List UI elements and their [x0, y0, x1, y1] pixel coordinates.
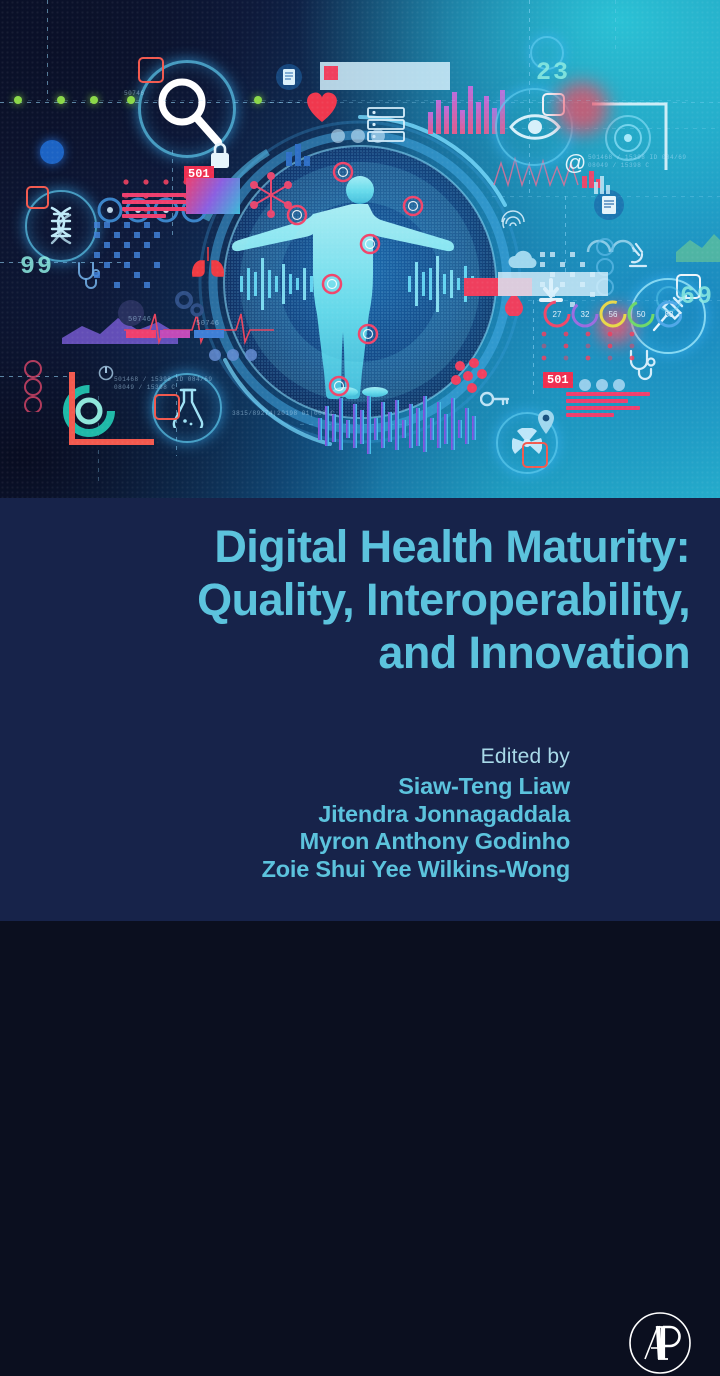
info-panel — [320, 62, 450, 90]
tag-chip — [194, 330, 224, 338]
hud-readouts: 23 99 69 501 501 50746 501468 / 15398 ID… — [0, 0, 720, 498]
title-line: Quality, Interoperability, — [30, 573, 690, 626]
micro-label: 50746 — [196, 320, 220, 328]
readout-69: 69 — [680, 282, 714, 311]
title-panel: Digital Health Maturity: Quality, Intero… — [0, 498, 720, 921]
tag-chip — [160, 330, 190, 338]
editor-name: Zoie Shui Yee Wilkins-Wong — [262, 856, 570, 884]
micro-label: 501468 / 15398 ID 084/69 — [114, 376, 212, 383]
page-title: Digital Health Maturity: Quality, Intero… — [30, 520, 690, 679]
readout-501: 501 — [543, 372, 573, 388]
data-bar — [122, 214, 166, 218]
micro-label: 08049 / 15398 C — [114, 384, 176, 391]
editor-name: Myron Anthony Godinho — [262, 828, 570, 856]
micro-label: 50746 — [128, 316, 152, 324]
editor-name: Jitendra Jonnagaddala — [262, 801, 570, 829]
info-panel — [498, 272, 608, 296]
editor-name: Siaw-Teng Liaw — [262, 773, 570, 801]
data-bar — [566, 413, 614, 417]
data-bar — [122, 200, 190, 204]
micro-label: 08049 / 15398 C — [588, 162, 650, 169]
readout-99: 99 — [20, 252, 54, 281]
cover-artwork: @ — [0, 0, 720, 498]
info-panel-swatch — [324, 66, 338, 80]
data-bar — [566, 406, 640, 410]
edited-by-label: Edited by — [481, 745, 570, 769]
micro-label: 501468 / 15398 ID 084/69 — [588, 154, 686, 161]
micro-label: 50746 — [124, 90, 145, 97]
micro-label: 3815/89274|20198 01|008 C — [232, 410, 335, 417]
publisher-logo-academic-press — [627, 1310, 693, 1376]
title-line: and Innovation — [30, 626, 690, 679]
gradient-swatch — [186, 178, 240, 214]
title-line: Digital Health Maturity: — [30, 520, 690, 573]
book-cover: @ — [0, 0, 720, 921]
readout-23: 23 — [536, 58, 570, 87]
editor-list: Siaw-Teng Liaw Jitendra Jonnagaddala Myr… — [262, 773, 570, 883]
data-bar — [566, 399, 628, 403]
tag-chip — [126, 330, 156, 338]
data-bar — [566, 392, 650, 396]
